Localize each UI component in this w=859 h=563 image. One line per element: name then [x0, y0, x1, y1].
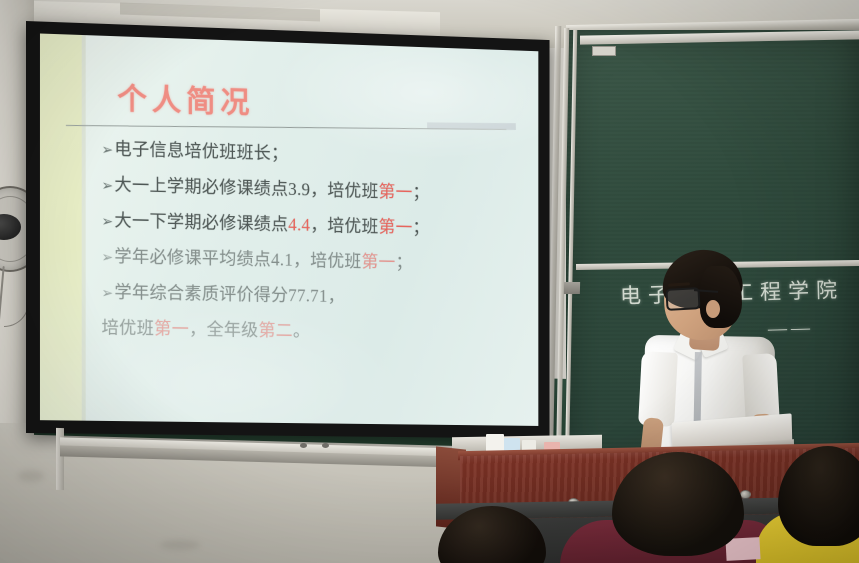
slide-bullet-list: ➢电子信息培优班班长；➢大一上学期必修课绩点3.9，培优班第一；➢大一下学期必修…: [102, 135, 520, 357]
bullet-text: ；: [412, 182, 429, 202]
slide-bullet: ➢学年必修课平均绩点4.1，培优班第一；: [102, 243, 520, 277]
board-rail-clip: [564, 282, 580, 294]
slide-surface: 个人简况 ➢电子信息培优班班长；➢大一上学期必修课绩点3.9，培优班第一；➢大一…: [40, 33, 538, 425]
speaker-ear: [706, 300, 720, 318]
slide-bullet: 培优班第一，全年级第二。: [102, 314, 520, 346]
bullet-marker-icon: ➢: [102, 179, 114, 194]
slide-bullet: ➢大一下学期必修课绩点4.4，培优班第一；: [102, 207, 520, 242]
tray-screw: [322, 443, 329, 448]
bullet-highlight-text: 第一: [379, 182, 413, 202]
bullet-text: ；: [412, 218, 429, 238]
bullet-text: 。: [293, 321, 310, 341]
slide-bullet: ➢学年综合素质评价得分77.71，: [102, 279, 520, 312]
wall-smudge: [160, 540, 200, 550]
bullet-text: ，培优班: [310, 215, 378, 236]
chalkboard-subtext: ——: [768, 317, 815, 340]
bullet-text: 学年综合素质评价得分77.71，: [114, 282, 344, 306]
bullet-marker-icon: ➢: [102, 287, 114, 302]
bullet-text: 电子信息培优班班长；: [114, 139, 288, 164]
speaker-sleeve-left: [638, 351, 678, 427]
speaker-hair-side: [700, 266, 742, 328]
bullet-highlight-text: 第二: [258, 320, 292, 340]
bullet-highlight-text: 4.4: [288, 214, 310, 234]
bullet-marker-icon: ➢: [102, 215, 114, 230]
bullet-marker-icon: ➢: [102, 143, 114, 158]
bullet-text: 学年必修课平均绩点4.1，培优班: [114, 246, 361, 271]
slide-title: 个人简况: [117, 74, 254, 122]
bullet-text: ；: [396, 252, 413, 272]
bullet-highlight-text: 第一: [154, 318, 189, 338]
bullet-text: 大一上学期必修课绩点3.9，培优班: [114, 174, 378, 201]
projector-screen-frame: 个人简况 ➢电子信息培优班班长；➢大一上学期必修课绩点3.9，培优班第一；➢大一…: [26, 21, 550, 439]
bullet-highlight-text: 第一: [362, 252, 396, 272]
slide-bullet: ➢电子信息培优班班长；: [102, 135, 520, 172]
bullet-marker-icon: ➢: [102, 251, 114, 266]
slide-bullet: ➢大一上学期必修课绩点3.9，培优班第一；: [102, 171, 520, 207]
bullet-text: ，全年级: [189, 319, 258, 340]
wall-smudge: [18, 470, 44, 482]
tray-screw: [300, 443, 307, 448]
bullet-highlight-text: 第一: [379, 217, 413, 237]
slide-accent-band: [40, 33, 82, 420]
classroom-photo: 电子信息工程学院 —— 个人简况 ➢电子信息培优班班长；➢大一上学期必修课绩点3…: [0, 0, 859, 563]
bullet-text: 大一下学期必修课绩点: [114, 210, 288, 234]
board-rail-tag: [592, 46, 616, 56]
slide-accent-band-edge: [82, 35, 86, 421]
bullet-text: 培优班: [102, 317, 155, 338]
